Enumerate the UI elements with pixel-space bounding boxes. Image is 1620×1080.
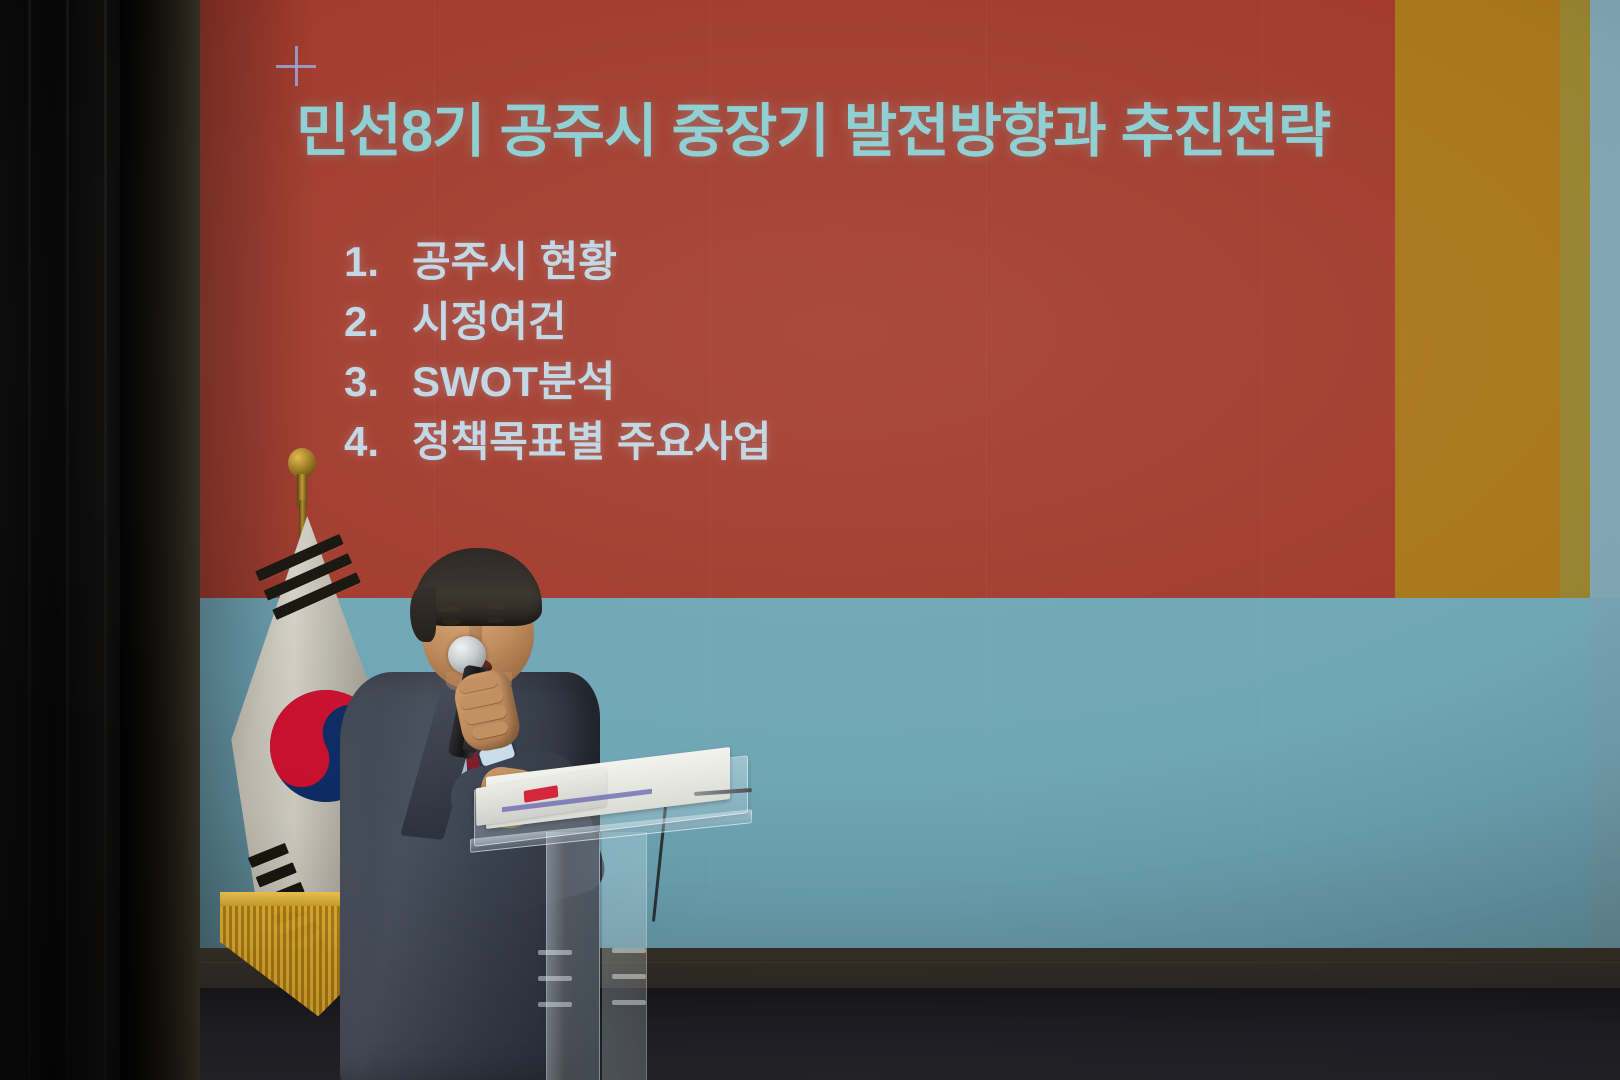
curtain-edge [120, 0, 200, 1080]
slide-olive-band [1560, 0, 1590, 598]
curtain-fold [28, 0, 31, 1080]
list-item-number: 1. [344, 232, 412, 292]
list-item-label: SWOT분석 [412, 352, 615, 412]
slide-gold-band [1395, 0, 1560, 598]
list-item-number: 2. [344, 292, 412, 352]
list-item-number: 3. [344, 352, 412, 412]
lectern-column-back [602, 832, 647, 1080]
lectern-rail [538, 976, 572, 981]
lectern-rail [612, 1000, 646, 1005]
list-item: 1. 공주시 현황 [344, 232, 771, 292]
stage-curtain [0, 0, 200, 1080]
slide-blue-edge-band-lower [1590, 598, 1620, 948]
lectern-rail [538, 950, 572, 955]
curtain-fold [104, 0, 107, 1080]
slide-title: 민선8기 공주시 중장기 발전방향과 추진전략 [296, 84, 1356, 168]
presenter-eye-right [486, 616, 505, 623]
acrylic-lectern [462, 762, 762, 1080]
screenshot-root: 민선8기 공주시 중장기 발전방향과 추진전략 1. 공주시 현황 2. 시정여… [0, 0, 1620, 1080]
presenter-hair-side [410, 586, 436, 642]
lectern-rail [612, 974, 646, 979]
presenter-eye-left [442, 618, 461, 625]
slide-blue-edge-band [1590, 0, 1620, 598]
list-item-label: 공주시 현황 [412, 232, 617, 292]
list-item: 4. 정책목표별 주요사업 [344, 412, 771, 472]
lectern-rail [538, 1002, 572, 1007]
list-item: 3. SWOT분석 [344, 352, 771, 412]
lectern-column [546, 832, 600, 1080]
lectern-rail [612, 948, 646, 953]
list-item-label: 정책목표별 주요사업 [412, 412, 771, 472]
list-item-label: 시정여건 [412, 292, 567, 352]
list-item: 2. 시정여건 [344, 292, 771, 352]
curtain-fold [66, 0, 69, 1080]
slide-agenda-list: 1. 공주시 현황 2. 시정여건 3. SWOT분석 4. 정책목표별 주요사… [344, 232, 771, 472]
